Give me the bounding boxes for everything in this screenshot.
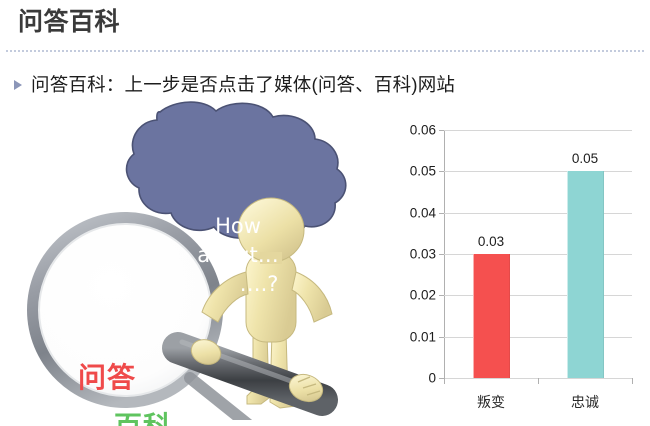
chart-gridline — [444, 171, 632, 172]
magnifier-word-bottom: 百科 — [114, 405, 172, 426]
x-axis-category-label: 叛变 — [477, 392, 505, 412]
y-axis-tick-mark — [439, 130, 444, 131]
y-axis-tick-mark — [439, 171, 444, 172]
y-axis-tick-label: 0.02 — [410, 288, 436, 303]
x-axis-tick-mark — [444, 378, 445, 384]
bullet-item: 问答百科：上一步是否点击了媒体(问答、百科)网站 — [14, 71, 455, 97]
chart-data-label: 0.03 — [478, 234, 504, 249]
magnifier-word-top: 问答 — [78, 356, 136, 396]
y-axis-tick-label: 0.01 — [410, 329, 436, 344]
y-axis-tick-label: 0.05 — [410, 164, 436, 179]
page-title: 问答百科 — [18, 8, 120, 37]
x-axis-tick-mark — [632, 378, 633, 384]
x-axis-tick-mark — [538, 378, 539, 384]
chart-plot-area: 00.010.020.030.040.050.060.03叛变0.05忠诚 — [444, 130, 632, 378]
y-axis-tick-mark — [439, 254, 444, 255]
illustration-group: How about… ….? 问答 百科 — [10, 100, 390, 420]
chart-bar[interactable] — [473, 254, 510, 378]
title-divider — [6, 50, 644, 52]
chart-gridline — [444, 213, 632, 214]
illustration-svg — [10, 100, 390, 420]
y-axis-tick-label: 0.04 — [410, 205, 436, 220]
bar-chart: 00.010.020.030.040.050.060.03叛变0.05忠诚 — [400, 118, 642, 418]
bullet-item-label: 问答百科：上一步是否点击了媒体(问答、百科)网站 — [31, 71, 455, 97]
y-axis-tick-mark — [439, 337, 444, 338]
chart-gridline — [444, 130, 632, 131]
y-axis-tick-label: 0 — [428, 371, 436, 386]
chart-bar[interactable] — [567, 171, 604, 378]
y-axis-tick-label: 0.06 — [410, 123, 436, 138]
y-axis-tick-mark — [439, 295, 444, 296]
chart-data-label: 0.05 — [572, 151, 598, 166]
slide-canvas: 问答百科 问答百科：上一步是否点击了媒体(问答、百科)网站 — [0, 0, 650, 426]
triangle-arrow-icon — [14, 80, 22, 90]
x-axis-category-label: 忠诚 — [571, 392, 599, 412]
y-axis-tick-label: 0.03 — [410, 247, 436, 262]
y-axis-tick-mark — [439, 213, 444, 214]
